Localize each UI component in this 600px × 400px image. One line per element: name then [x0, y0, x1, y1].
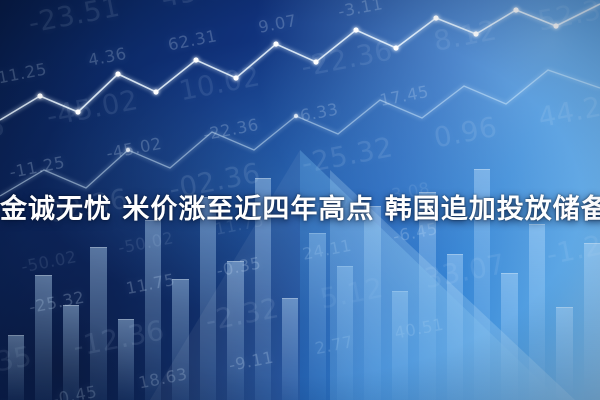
background-glow-center: [0, 0, 600, 400]
news-banner-image: -12.36 -23.51 45.02 36.12 -8.44 21.03 -5…: [0, 0, 600, 400]
